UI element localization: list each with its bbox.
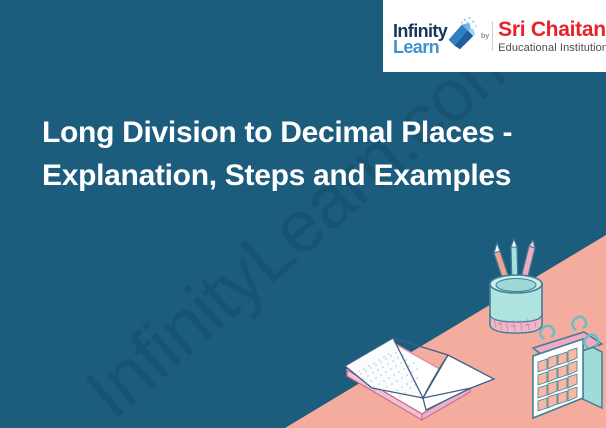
thumbnail-card: InfinityLearn.com: [0, 0, 606, 428]
infinity-learn-word-two: Learn: [393, 38, 439, 56]
logo-separator: by: [481, 21, 493, 51]
by-label: by: [481, 33, 489, 40]
sri-chaitanya-logo: Sri Chaitanya Educational Institutions: [498, 19, 606, 54]
logo-bar: Infinity Learn by Sri Chaitanya Educatio…: [383, 0, 606, 72]
infinity-learn-logo: Infinity Learn: [393, 13, 475, 59]
desk-calendar-graphic: [533, 317, 602, 418]
sri-chaitanya-subtitle: Educational Institutions: [498, 43, 606, 54]
sri-chaitanya-name: Sri Chaitanya: [498, 19, 606, 40]
desk-illustration: [330, 238, 606, 428]
divider-rule: [492, 21, 493, 51]
pencil-cup-graphic: [490, 239, 542, 333]
infinity-bird-mark: [441, 17, 479, 55]
page-title: Long Division to Decimal Places - Explan…: [42, 112, 572, 197]
open-book-graphic: [345, 338, 494, 420]
